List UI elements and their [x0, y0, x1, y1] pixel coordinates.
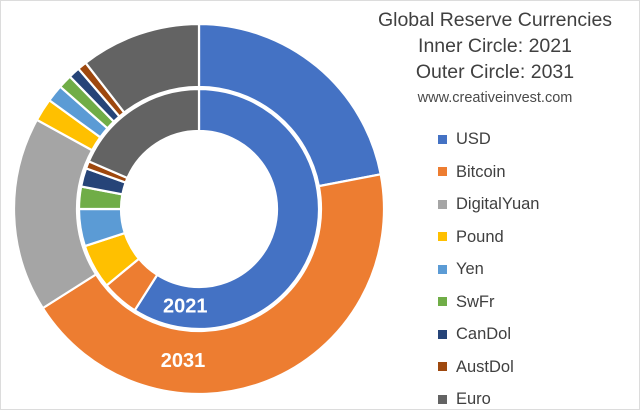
legend-swatch-icon	[438, 265, 447, 274]
chart-source-url: www.creativeinvest.com	[361, 87, 629, 109]
legend-swatch-icon	[438, 232, 447, 241]
legend-item-bitcoin[interactable]: Bitcoin	[431, 156, 631, 189]
legend-label: CanDol	[456, 326, 511, 343]
chart-legend: USDBitcoinDigitalYuanPoundYenSwFrCanDolA…	[431, 123, 631, 416]
legend-item-pound[interactable]: Pound	[431, 221, 631, 254]
chart-title: Global Reserve Currencies	[361, 7, 629, 33]
chart-subtitle-inner: Inner Circle: 2021	[361, 33, 629, 59]
chart-title-block: Global Reserve Currencies Inner Circle: …	[361, 7, 629, 109]
nested-donut-chart: 2021 2031	[1, 1, 401, 411]
legend-label: AustDol	[456, 359, 514, 376]
legend-item-digitalyuan[interactable]: DigitalYuan	[431, 188, 631, 221]
chart-canvas: 2021 2031 Global Reserve Currencies Inne…	[0, 0, 640, 410]
legend-swatch-icon	[438, 200, 447, 209]
legend-swatch-icon	[438, 330, 447, 339]
legend-item-swfr[interactable]: SwFr	[431, 286, 631, 319]
legend-swatch-icon	[438, 167, 447, 176]
outer-ring-2031	[14, 24, 384, 394]
legend-label: Bitcoin	[456, 164, 506, 181]
legend-item-usd[interactable]: USD	[431, 123, 631, 156]
legend-label: Euro	[456, 391, 491, 408]
legend-label: SwFr	[456, 294, 495, 311]
legend-swatch-icon	[438, 135, 447, 144]
outer-ring-label: 2031	[161, 350, 206, 372]
legend-item-euro[interactable]: Euro	[431, 383, 631, 416]
legend-swatch-icon	[438, 395, 447, 404]
inner-ring-label: 2021	[163, 295, 208, 317]
inner-ring-2021	[79, 89, 319, 329]
chart-subtitle-outer: Outer Circle: 2031	[361, 59, 629, 85]
legend-label: Yen	[456, 261, 484, 278]
legend-label: Pound	[456, 229, 504, 246]
legend-swatch-icon	[438, 297, 447, 306]
legend-item-yen[interactable]: Yen	[431, 253, 631, 286]
legend-item-candol[interactable]: CanDol	[431, 318, 631, 351]
legend-label: DigitalYuan	[456, 196, 539, 213]
legend-label: USD	[456, 131, 491, 148]
donut-svg: 2021 2031	[1, 1, 401, 411]
legend-item-austdol[interactable]: AustDol	[431, 351, 631, 384]
legend-swatch-icon	[438, 362, 447, 371]
